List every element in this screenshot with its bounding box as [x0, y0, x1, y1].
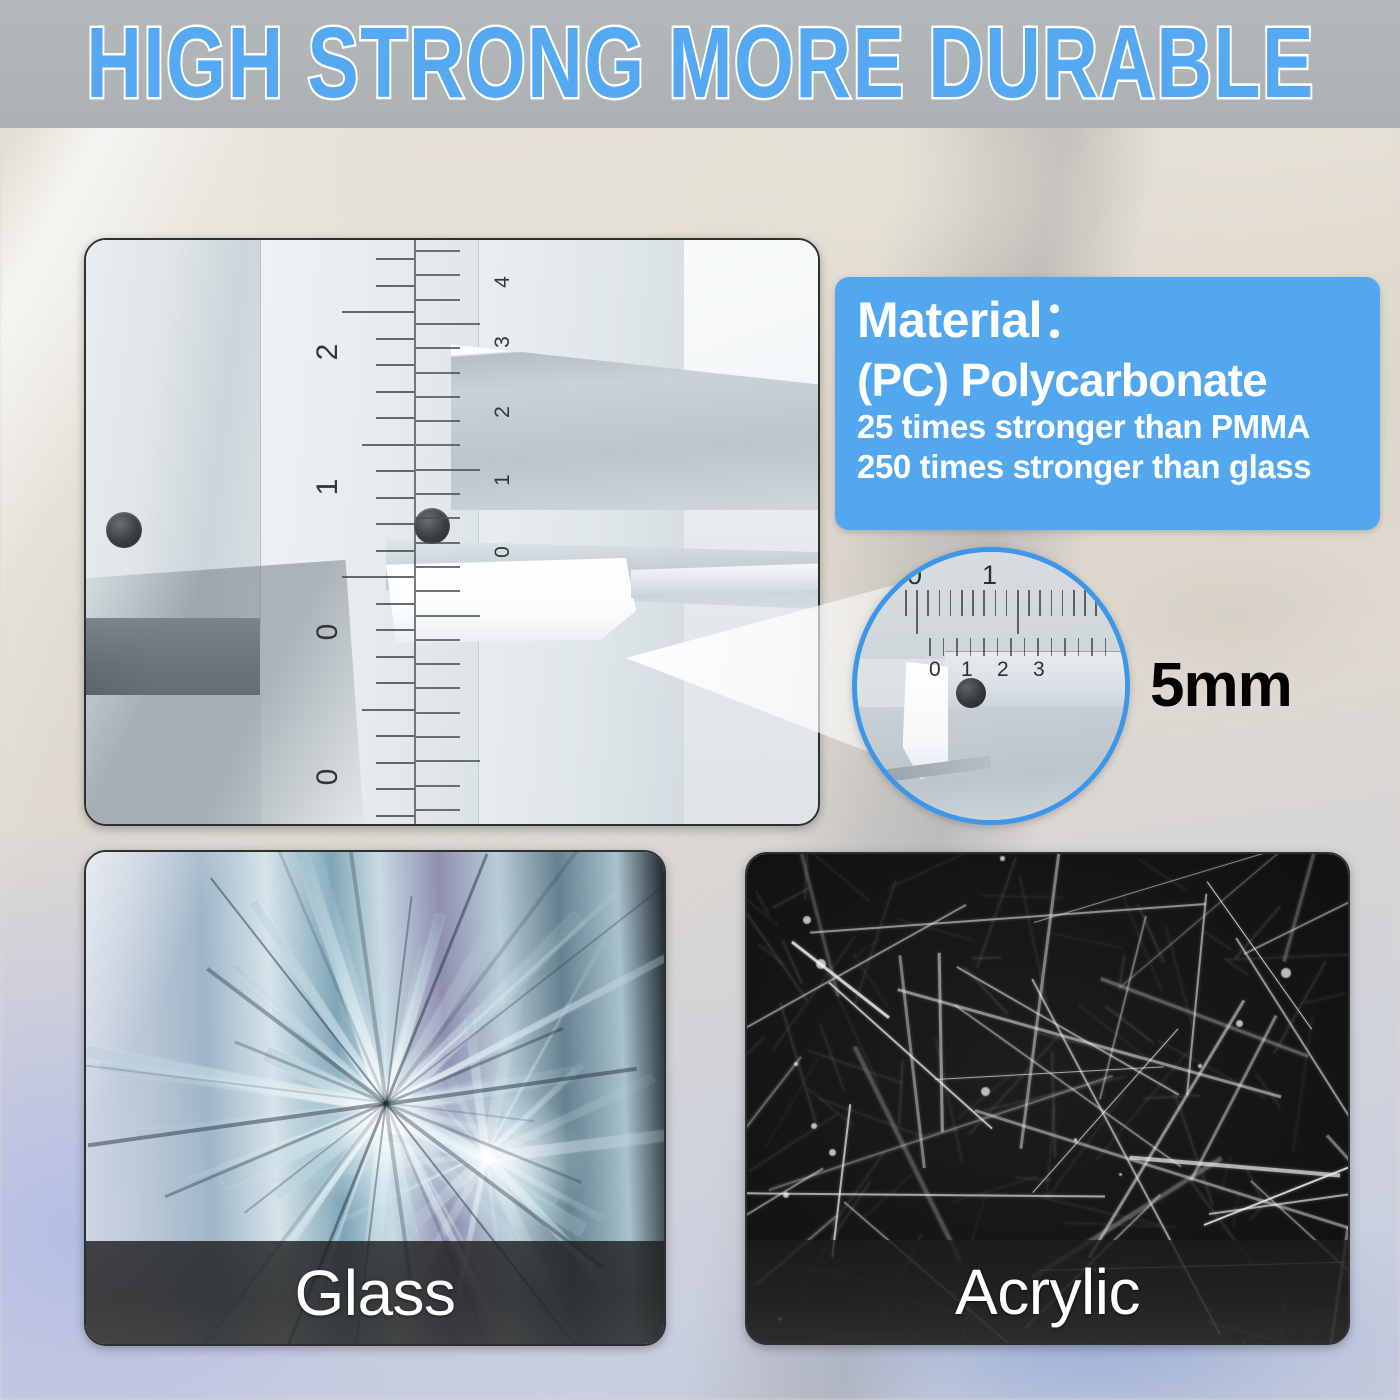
caliper-rivet-left	[106, 512, 142, 548]
caption-label-glass: Glass	[294, 1261, 455, 1325]
caption-banner-acrylic: Acrylic	[747, 1240, 1348, 1343]
magnified-vernier-numeral: 2	[997, 658, 1009, 682]
caliper-photo-panel: 2100 43210	[84, 238, 820, 826]
main-scale-numeral: 0	[311, 757, 345, 797]
material-claim-glass: 250 times stronger than glass	[857, 447, 1358, 488]
magnified-rivet	[956, 678, 986, 708]
caption-label-acrylic: Acrylic	[955, 1260, 1140, 1324]
polycarbonate-sample-sheet	[386, 558, 636, 643]
vernier-scale-numeral: 3	[491, 325, 515, 359]
magnified-caliper-body	[857, 707, 1125, 820]
header-banner: HIGH STRONG MORE DURABLE	[0, 0, 1400, 128]
caption-banner-glass: Glass	[86, 1241, 664, 1344]
magnified-main-numeral: 0	[907, 560, 922, 591]
material-card-heading: Material：	[857, 293, 1358, 347]
comparison-panel-acrylic: Acrylic	[745, 852, 1350, 1345]
comparison-panel-glass: Glass	[84, 850, 666, 1346]
thickness-label: 5mm	[1150, 655, 1292, 717]
magnified-vernier-numeral: 3	[1033, 658, 1045, 682]
magnifier-circle: 010123	[852, 547, 1130, 825]
caliper-photo: 2100 43210	[86, 240, 818, 824]
vernier-scale-numeral: 1	[491, 463, 515, 497]
page-title: HIGH STRONG MORE DURABLE	[86, 14, 1315, 114]
magnified-vernier-numeral: 0	[929, 658, 941, 682]
infographic-canvas: HIGH STRONG MORE DURABLE 2100 43210	[0, 0, 1400, 1400]
magnified-vernier-numeral: 1	[961, 658, 973, 682]
material-name: (PC) Polycarbonate	[857, 355, 1358, 407]
vernier-scale-numeral: 2	[491, 395, 515, 429]
magnified-main-numeral: 1	[982, 560, 997, 591]
main-scale-numeral: 0	[311, 612, 345, 652]
main-scale-numeral: 2	[311, 332, 345, 372]
material-claim-pmma: 25 times stronger than PMMA	[857, 407, 1358, 448]
material-info-card: Material： (PC) Polycarbonate 25 times st…	[835, 277, 1380, 530]
vernier-scale-numeral: 0	[491, 535, 515, 569]
vernier-scale-numeral: 4	[491, 265, 515, 299]
caliper-rivet-right	[414, 508, 450, 544]
main-scale-numeral: 1	[311, 467, 345, 507]
